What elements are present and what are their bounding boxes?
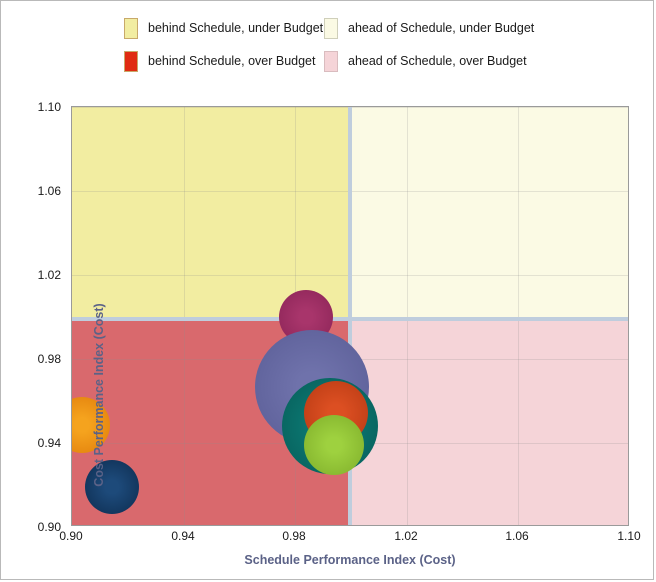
legend-item-label: behind Schedule, over Budget	[148, 54, 316, 68]
x-tick-label: 0.90	[41, 529, 101, 543]
y-tick-label: 1.10	[9, 100, 61, 114]
legend-item-label: ahead of Schedule, over Budget	[348, 54, 527, 68]
y-tick-label: 0.98	[9, 352, 61, 366]
x-axis-ticks: 0.900.940.981.021.061.10	[71, 529, 629, 547]
chart-legend: behind Schedule, under Budgetahead of Sc…	[124, 17, 544, 75]
plot-area[interactable]	[71, 106, 629, 526]
gridline-vertical	[407, 107, 408, 525]
quadrant-divider-horizontal	[72, 317, 628, 321]
legend-swatch-icon	[124, 51, 138, 72]
gridline-vertical	[184, 107, 185, 525]
legend-swatch-icon	[324, 18, 338, 39]
plot-wrapper: Cost Performance Index (Cost)	[71, 106, 629, 526]
x-tick-label: 1.10	[599, 529, 656, 543]
quadrant-ahead-schedule-over-budget	[350, 319, 629, 526]
x-tick-label: 1.06	[487, 529, 547, 543]
x-tick-label: 0.98	[264, 529, 324, 543]
y-tick-label: 1.02	[9, 268, 61, 282]
quadrant-ahead-schedule-under-budget	[350, 107, 629, 319]
y-tick-label: 0.94	[9, 436, 61, 450]
y-axis-ticks: 1.101.061.020.980.940.90	[9, 106, 65, 526]
legend-item[interactable]: behind Schedule, over Budget	[124, 50, 316, 72]
legend-item[interactable]: ahead of Schedule, over Budget	[324, 50, 527, 72]
x-tick-label: 0.94	[153, 529, 213, 543]
legend-item[interactable]: behind Schedule, under Budget	[124, 17, 323, 39]
gridline-vertical	[518, 107, 519, 525]
quadrant-behind-schedule-under-budget	[72, 107, 350, 319]
legend-item[interactable]: ahead of Schedule, under Budget	[324, 17, 534, 39]
legend-swatch-icon	[324, 51, 338, 72]
chart-page-frame: behind Schedule, under Budgetahead of Sc…	[0, 0, 654, 580]
y-tick-label: 1.06	[9, 184, 61, 198]
y-axis-title: Cost Performance Index (Cost)	[92, 235, 106, 555]
x-tick-label: 1.02	[376, 529, 436, 543]
legend-item-label: behind Schedule, under Budget	[148, 21, 323, 35]
legend-swatch-icon	[124, 18, 138, 39]
bubble-green[interactable]	[304, 415, 364, 475]
legend-item-label: ahead of Schedule, under Budget	[348, 21, 534, 35]
x-axis-title: Schedule Performance Index (Cost)	[71, 553, 629, 567]
